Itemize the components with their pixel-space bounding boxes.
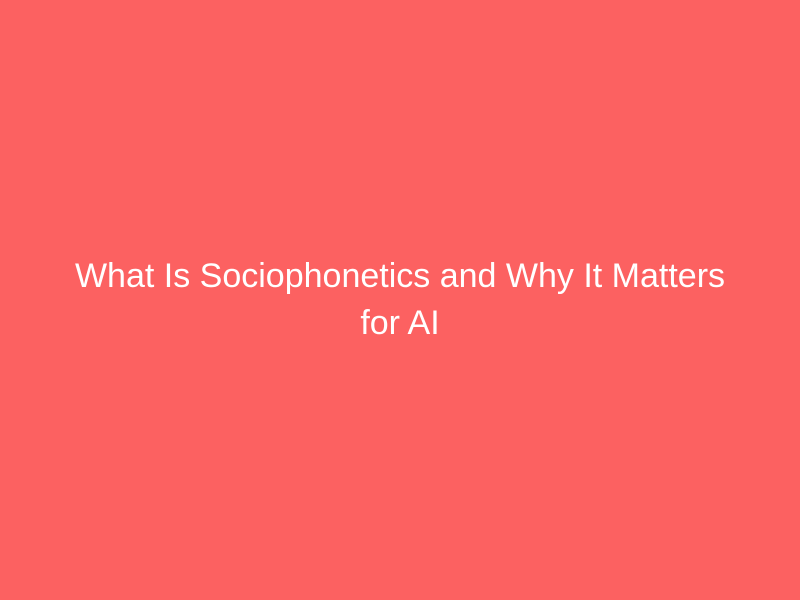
headline-block: What Is Sociophonetics and Why It Matter…: [60, 253, 740, 347]
page-title: What Is Sociophonetics and Why It Matter…: [60, 253, 740, 347]
title-card: What Is Sociophonetics and Why It Matter…: [0, 0, 800, 600]
